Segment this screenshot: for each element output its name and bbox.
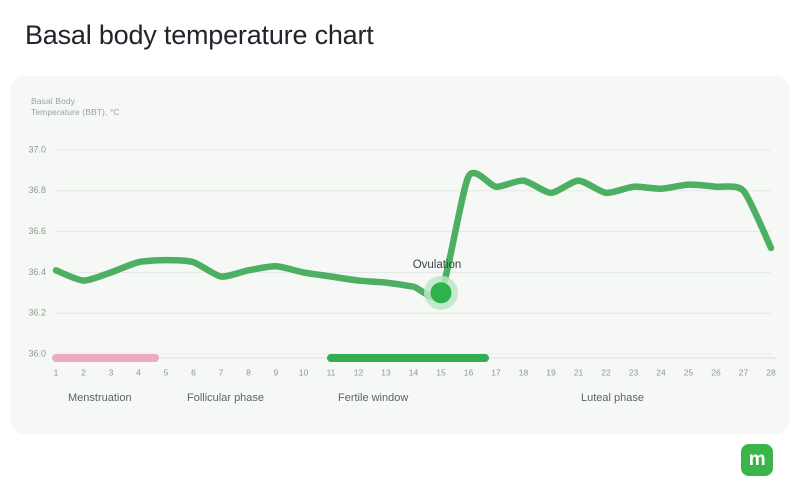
x-tick-label: 12 — [354, 367, 364, 377]
x-tick-label: 18 — [519, 367, 529, 377]
brand-logo: m — [741, 444, 773, 476]
ovulation-label: Ovulation — [413, 259, 462, 271]
x-tick-label: 26 — [711, 367, 721, 377]
y-tick-label: 36.0 — [28, 348, 46, 358]
x-tick-label: 8 — [246, 367, 251, 377]
phase-label-menstruation: Menstruation — [68, 392, 132, 404]
y-tick-labels: 37.036.836.636.436.236.0 — [28, 144, 46, 358]
x-tick-label: 19 — [546, 367, 556, 377]
x-tick-label: 25 — [684, 367, 694, 377]
x-tick-label: 1 — [54, 367, 59, 377]
ovulation-marker[interactable] — [431, 282, 452, 303]
bbt-curve — [56, 173, 771, 297]
y-tick-label: 37.0 — [28, 144, 46, 154]
x-tick-label: 14 — [409, 367, 419, 377]
x-tick-label: 10 — [299, 367, 309, 377]
ovulation-annotation: Ovulation — [413, 259, 462, 310]
brand-logo-glyph: m — [749, 450, 765, 469]
x-tick-label: 2 — [81, 367, 86, 377]
x-tick-label: 21 — [574, 367, 584, 377]
x-tick-label: 7 — [219, 367, 224, 377]
y-tick-label: 36.4 — [28, 267, 46, 277]
x-tick-label: 9 — [274, 367, 279, 377]
y-tick-label: 36.8 — [28, 185, 46, 195]
x-tick-label: 22 — [601, 367, 611, 377]
phase-label-fertile-window: Fertile window — [338, 392, 408, 404]
y-tick-label: 36.6 — [28, 226, 46, 236]
x-tick-label: 5 — [164, 367, 169, 377]
x-tick-label: 13 — [381, 367, 391, 377]
x-tick-label: 24 — [656, 367, 666, 377]
x-tick-label: 15 — [436, 367, 446, 377]
bbt-curve-group — [56, 173, 771, 297]
x-tick-labels: 1234567891011121314151617181921222324252… — [54, 367, 776, 377]
y-tick-label: 36.2 — [28, 308, 46, 318]
x-tick-label: 27 — [739, 367, 749, 377]
phase-label-luteal-phase: Luteal phase — [581, 392, 644, 404]
x-tick-label: 28 — [766, 367, 776, 377]
chart-card: Basal Body Temperature (BBT), °C 37.036.… — [11, 76, 789, 434]
x-tick-label: 3 — [109, 367, 114, 377]
phase-label-follicular-phase: Follicular phase — [187, 392, 264, 404]
x-tick-label: 23 — [629, 367, 639, 377]
x-tick-label: 4 — [136, 367, 141, 377]
x-tick-label: 11 — [327, 367, 336, 377]
x-tick-label: 16 — [464, 367, 474, 377]
page-title: Basal body temperature chart — [25, 20, 374, 51]
bbt-line-chart: 37.036.836.636.436.236.0 123456789101112… — [11, 76, 789, 434]
x-tick-label: 17 — [491, 367, 501, 377]
x-tick-label: 6 — [191, 367, 196, 377]
gridlines — [56, 150, 771, 354]
